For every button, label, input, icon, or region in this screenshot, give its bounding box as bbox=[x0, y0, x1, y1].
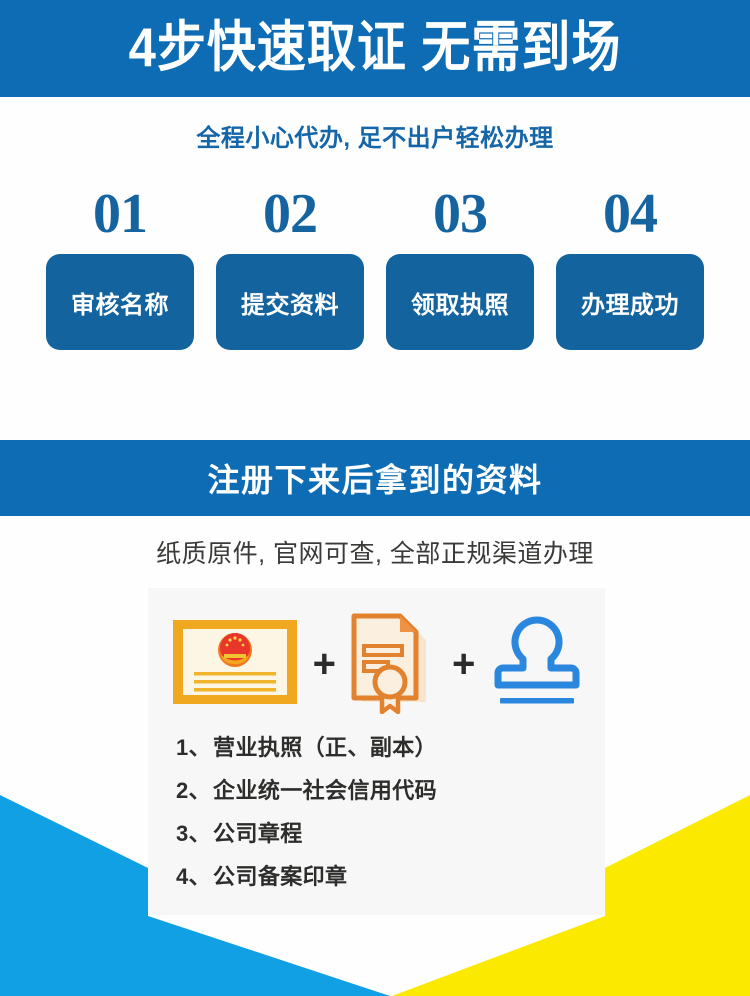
list-item-text: 公司备案印章 bbox=[213, 855, 347, 898]
step-label-3: 领取执照 bbox=[411, 285, 509, 320]
promo-page: 4步快速取证 无需到场 全程小心代办, 足不出户轻松办理 01 审核名称 02 … bbox=[0, 0, 750, 996]
list-item-index: 2、 bbox=[176, 769, 211, 812]
materials-icon-row: + + bbox=[166, 606, 590, 718]
certificate-document-icon bbox=[348, 610, 440, 714]
list-item-index: 1、 bbox=[176, 726, 211, 769]
list-item: 4、 公司备案印章 bbox=[176, 855, 596, 898]
step-label-2: 提交资料 bbox=[241, 285, 339, 320]
list-item: 2、 企业统一社会信用代码 bbox=[176, 769, 596, 812]
step-item-3: 03 领取执照 bbox=[386, 186, 534, 350]
step-box-3[interactable]: 领取执照 bbox=[386, 254, 534, 350]
header-banner: 4步快速取证 无需到场 bbox=[0, 0, 750, 97]
plus-separator-2: + bbox=[444, 644, 483, 684]
materials-section-title: 注册下来后拿到的资料 bbox=[207, 455, 542, 501]
step-number-3: 03 bbox=[433, 186, 487, 242]
list-item-text: 公司章程 bbox=[213, 812, 303, 855]
subtitle-text: 全程小心代办, 足不出户轻松办理 bbox=[0, 118, 750, 153]
step-box-2[interactable]: 提交资料 bbox=[216, 254, 364, 350]
step-label-1: 审核名称 bbox=[71, 285, 169, 320]
step-item-2: 02 提交资料 bbox=[216, 186, 364, 350]
list-item-index: 3、 bbox=[176, 812, 211, 855]
step-label-4: 办理成功 bbox=[581, 285, 679, 320]
list-item: 1、 营业执照（正、副本） bbox=[176, 726, 596, 769]
step-item-1: 01 审核名称 bbox=[46, 186, 194, 350]
steps-row: 01 审核名称 02 提交资料 03 领取执照 04 办理成功 bbox=[46, 186, 704, 350]
materials-card: + + bbox=[148, 588, 605, 915]
step-item-4: 04 办理成功 bbox=[556, 186, 704, 350]
list-item-index: 4、 bbox=[176, 855, 211, 898]
materials-list: 1、 营业执照（正、副本） 2、 企业统一社会信用代码 3、 公司章程 4、 公… bbox=[176, 726, 596, 898]
materials-lead-text: 纸质原件, 官网可查, 全部正规渠道办理 bbox=[0, 534, 750, 570]
step-number-1: 01 bbox=[93, 186, 147, 242]
step-number-4: 04 bbox=[603, 186, 657, 242]
list-item-text: 营业执照（正、副本） bbox=[213, 726, 437, 769]
list-item-text: 企业统一社会信用代码 bbox=[213, 769, 437, 812]
plus-separator-1: + bbox=[305, 644, 344, 684]
materials-section-banner: 注册下来后拿到的资料 bbox=[0, 440, 750, 516]
page-title: 4步快速取证 无需到场 bbox=[129, 21, 622, 76]
step-number-2: 02 bbox=[263, 186, 317, 242]
step-box-1[interactable]: 审核名称 bbox=[46, 254, 194, 350]
step-box-4[interactable]: 办理成功 bbox=[556, 254, 704, 350]
business-license-icon bbox=[169, 614, 301, 710]
company-seal-stamp-icon bbox=[487, 614, 587, 710]
list-item: 3、 公司章程 bbox=[176, 812, 596, 855]
